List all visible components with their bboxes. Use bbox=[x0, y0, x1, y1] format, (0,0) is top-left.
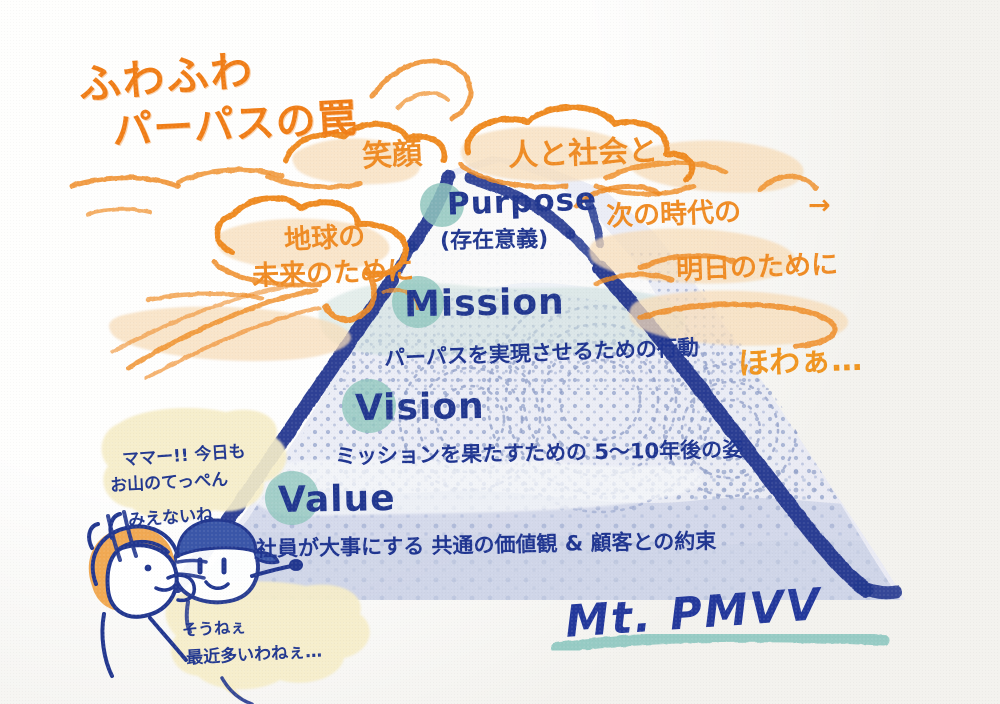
cloud-word-next-era: 次の時代の bbox=[605, 190, 741, 234]
cloud-word-people-society: 人と社会と bbox=[507, 125, 658, 174]
layer-heading-value: Value bbox=[278, 478, 396, 521]
cloud-word-earth-line2: 未来のために bbox=[251, 248, 414, 293]
cloud-word-smile: 笑顔 bbox=[361, 128, 423, 175]
mother-bubble-line-1: そうねぇ bbox=[181, 613, 246, 640]
cloud-word-howaa: ほわぁ… bbox=[737, 334, 862, 383]
layer-heading-mission: Mission bbox=[404, 282, 565, 326]
layer-heading-vision: Vision bbox=[355, 386, 485, 429]
cloud-arrow-icon: → bbox=[808, 190, 831, 221]
illustration-canvas: ふわふわ パーパスの罠 笑顔 人と社会と 地球の 未来のために 次の時代の → … bbox=[0, 0, 1000, 704]
layer-paren-purpose: (存在意義) bbox=[440, 221, 549, 255]
cloud-word-for-tomorrow: 明日のために bbox=[675, 242, 838, 287]
layer-heading-purpose: Purpose bbox=[446, 181, 597, 222]
